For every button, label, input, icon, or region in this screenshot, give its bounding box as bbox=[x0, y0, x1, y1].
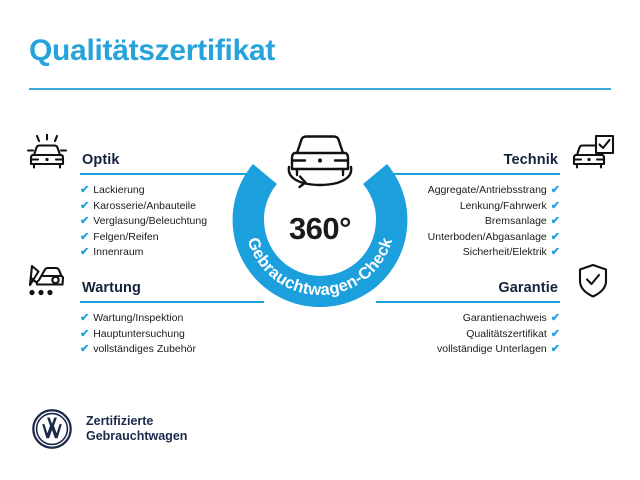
list-item: ✔Hauptuntersuchung bbox=[80, 327, 264, 343]
list-item-label: Wartung/Inspektion bbox=[93, 312, 183, 324]
check-icon: ✔ bbox=[80, 231, 89, 243]
list-item: vollständige Unterlagen✔ bbox=[376, 342, 560, 358]
section-optik: Optik ✔Lackierung ✔Karosserie/Anbauteile… bbox=[24, 133, 264, 261]
section-garantie: Garantie Garantienachweis✔ Qualitätszert… bbox=[376, 261, 616, 358]
list-item-label: Verglasung/Beleuchtung bbox=[93, 215, 207, 227]
section-garantie-list: Garantienachweis✔ Qualitätszertifikat✔ v… bbox=[376, 311, 616, 358]
section-wartung: Wartung ✔Wartung/Inspektion ✔Hauptunters… bbox=[24, 261, 264, 358]
check-icon: ✔ bbox=[551, 231, 560, 243]
list-item: Garantienachweis✔ bbox=[376, 311, 560, 327]
title-divider bbox=[29, 88, 611, 90]
list-item: ✔vollständiges Zubehör bbox=[80, 342, 264, 358]
section-wartung-header: Wartung bbox=[24, 261, 264, 303]
section-technik: Technik Aggregate/Antriebsstrang✔ Lenkun… bbox=[376, 133, 616, 261]
check-icon: ✔ bbox=[80, 246, 89, 258]
check-icon: ✔ bbox=[80, 328, 89, 340]
section-optik-title: Optik bbox=[82, 152, 120, 168]
section-wartung-title: Wartung bbox=[82, 280, 141, 296]
check-icon: ✔ bbox=[80, 184, 89, 196]
section-garantie-header: Garantie bbox=[376, 261, 616, 303]
check-icon: ✔ bbox=[551, 215, 560, 227]
check-icon: ✔ bbox=[551, 246, 560, 258]
list-item-label: Innenraum bbox=[93, 246, 143, 258]
check-icon: ✔ bbox=[551, 343, 560, 355]
list-item-label: Felgen/Reifen bbox=[93, 231, 158, 243]
car-checkbox-icon bbox=[570, 133, 616, 173]
list-item-label: Qualitätszertifikat bbox=[466, 328, 547, 340]
section-technik-title: Technik bbox=[504, 152, 558, 168]
list-item-label: Aggregate/Antriebsstrang bbox=[428, 184, 547, 196]
list-item-label: Sicherheit/Elektrik bbox=[463, 246, 547, 258]
check-icon: ✔ bbox=[80, 215, 89, 227]
footer-text: Zertifizierte Gebrauchtwagen bbox=[86, 414, 187, 445]
360-check-badge: Gebrauchtwagen-Check 360° bbox=[229, 121, 411, 307]
section-optik-header: Optik bbox=[24, 133, 264, 175]
page-title: Qualitätszertifikat bbox=[29, 34, 275, 68]
car-shine-icon bbox=[24, 133, 70, 173]
volkswagen-logo bbox=[31, 408, 73, 450]
list-item-label: Bremsanlage bbox=[485, 215, 547, 227]
check-icon: ✔ bbox=[551, 328, 560, 340]
list-item-label: Garantienachweis bbox=[463, 312, 547, 324]
check-icon: ✔ bbox=[551, 312, 560, 324]
check-icon: ✔ bbox=[80, 312, 89, 324]
list-item-label: Lenkung/Fahrwerk bbox=[460, 200, 547, 212]
check-icon: ✔ bbox=[551, 200, 560, 212]
list-item-label: Lackierung bbox=[93, 184, 144, 196]
check-icon: ✔ bbox=[551, 184, 560, 196]
section-technik-list: Aggregate/Antriebsstrang✔ Lenkung/Fahrwe… bbox=[376, 183, 616, 261]
check-icon: ✔ bbox=[80, 343, 89, 355]
section-wartung-list: ✔Wartung/Inspektion ✔Hauptuntersuchung ✔… bbox=[24, 311, 264, 358]
list-item-label: vollständiges Zubehör bbox=[93, 343, 196, 355]
list-item-label: vollständige Unterlagen bbox=[437, 343, 547, 355]
badge-degrees: 360° bbox=[229, 211, 411, 247]
section-optik-list: ✔Lackierung ✔Karosserie/Anbauteile ✔Verg… bbox=[24, 183, 264, 261]
car-service-pen-icon bbox=[24, 261, 70, 301]
section-technik-header: Technik bbox=[376, 133, 616, 175]
list-item-label: Karosserie/Anbauteile bbox=[93, 200, 196, 212]
list-item-label: Hauptuntersuchung bbox=[93, 328, 185, 340]
list-item: Qualitätszertifikat✔ bbox=[376, 327, 560, 343]
footer-brand: Zertifizierte Gebrauchtwagen bbox=[31, 408, 187, 450]
check-icon: ✔ bbox=[80, 200, 89, 212]
list-item: ✔Wartung/Inspektion bbox=[80, 311, 264, 327]
list-item-label: Unterboden/Abgasanlage bbox=[428, 231, 547, 243]
section-garantie-title: Garantie bbox=[498, 280, 558, 296]
certificate-page: Qualitätszertifikat bbox=[0, 0, 640, 480]
shield-check-icon bbox=[570, 261, 616, 301]
